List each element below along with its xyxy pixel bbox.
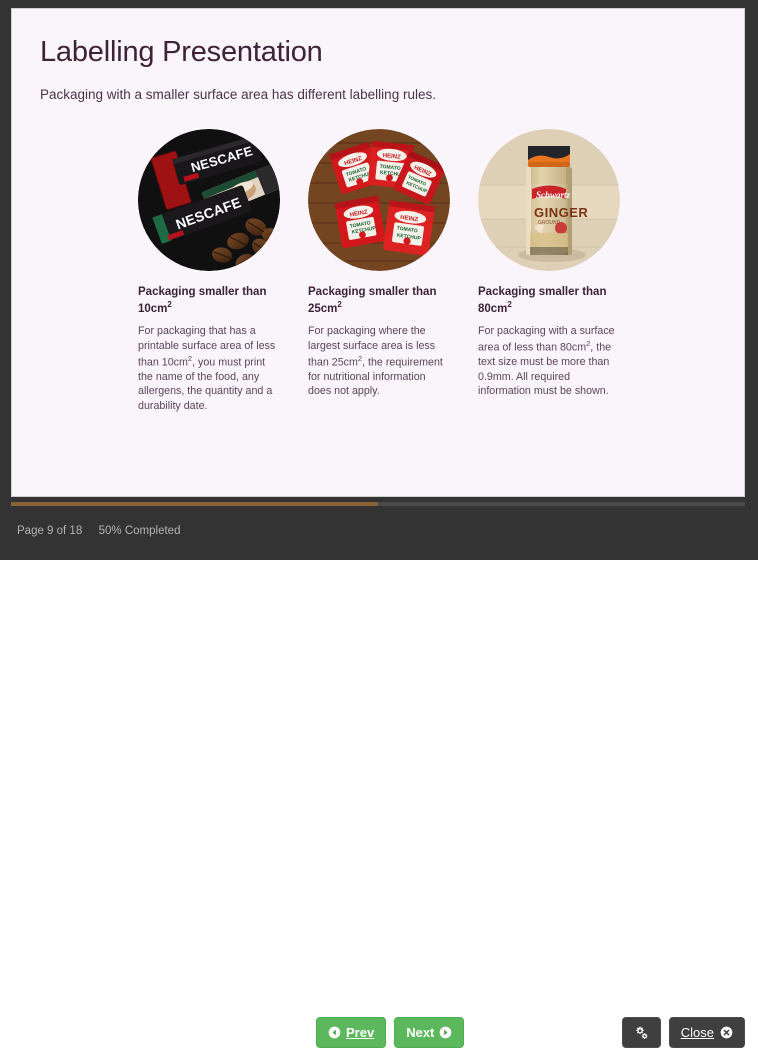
page-title: Labelling Presentation: [40, 35, 716, 69]
column-body: For packaging with a surface area of les…: [478, 324, 620, 399]
arrow-circle-left-icon: [328, 1026, 341, 1039]
column-heading: Packaging smaller than 80cm2: [478, 285, 620, 317]
slide-content: Labelling Presentation Packaging with a …: [12, 9, 744, 414]
close-button-label: Close: [681, 1026, 714, 1039]
heinz-ketchup-sachets-photo: HEINZ TOMATO KETCHUP: [308, 129, 450, 271]
progress-bar-track: [11, 502, 745, 506]
utility-buttons: Close: [622, 1017, 745, 1048]
page-status-group: Page 9 of 18 50% Completed: [17, 525, 180, 537]
presentation-viewer: Labelling Presentation Packaging with a …: [0, 0, 758, 560]
cogs-icon: [634, 1025, 649, 1040]
times-circle-icon: [720, 1026, 733, 1039]
slide-panel: Labelling Presentation Packaging with a …: [11, 8, 745, 497]
next-button[interactable]: Next: [394, 1017, 464, 1048]
column-group: NESCAFE: [40, 129, 716, 414]
svg-text:Schwartz: Schwartz: [536, 190, 571, 200]
progress-bar-fill: [11, 502, 378, 506]
slide-subtitle: Packaging with a smaller surface area ha…: [40, 86, 716, 105]
next-button-label: Next: [406, 1026, 434, 1039]
info-column: Schwartz GINGER GROUND Packaging s: [478, 129, 620, 414]
nescafe-coffee-sachets-photo: NESCAFE: [138, 129, 280, 271]
prev-button-label: Prev: [346, 1026, 374, 1039]
column-heading: Packaging smaller than 25cm2: [308, 285, 450, 317]
column-body: For packaging that has a printable surfa…: [138, 324, 280, 414]
close-button[interactable]: Close: [669, 1017, 745, 1048]
completion-label: 50% Completed: [99, 525, 181, 537]
arrow-circle-right-icon: [439, 1026, 452, 1039]
column-heading: Packaging smaller than 10cm2: [138, 285, 280, 317]
info-column: NESCAFE: [138, 129, 280, 414]
prev-button[interactable]: Prev: [316, 1017, 386, 1048]
column-body: For packaging where the largest surface …: [308, 324, 450, 399]
schwartz-ginger-jar-photo: Schwartz GINGER GROUND: [478, 129, 620, 271]
navigation-buttons: Prev Next: [316, 1017, 464, 1048]
page-number-label: Page 9 of 18: [17, 525, 82, 537]
svg-text:GINGER: GINGER: [534, 205, 588, 220]
settings-button[interactable]: [622, 1017, 661, 1048]
info-column: HEINZ TOMATO KETCHUP: [308, 129, 450, 414]
bottom-toolbar: Page 9 of 18 50% Completed Prev Next: [0, 508, 758, 560]
